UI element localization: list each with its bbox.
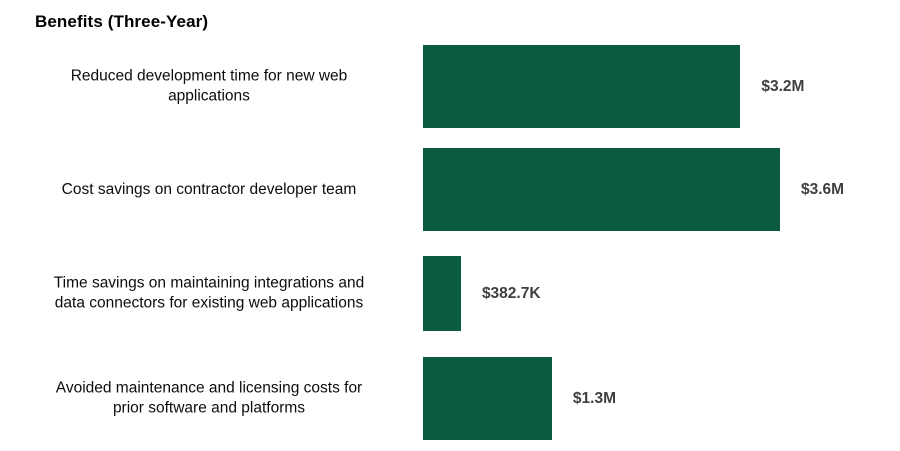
bar-rect[interactable] <box>423 45 740 128</box>
bar-value-label: $1.3M <box>573 390 616 408</box>
bar-category-label: Avoided maintenance and licensing costs … <box>0 378 418 419</box>
bar-value-label: $3.2M <box>761 78 804 96</box>
bar-rect[interactable] <box>423 148 780 231</box>
bar-category-label: Time savings on maintaining integrations… <box>0 273 418 314</box>
bar-row[interactable]: Avoided maintenance and licensing costs … <box>0 357 900 440</box>
bar-value-label: $3.6M <box>801 181 844 199</box>
bar-row[interactable]: Reduced development time for new webappl… <box>0 45 900 128</box>
bar-category-label: Reduced development time for new webappl… <box>0 66 418 107</box>
bar-rect[interactable] <box>423 357 552 440</box>
bar-row[interactable]: Cost savings on contractor developer tea… <box>0 148 900 231</box>
benefits-bar-chart: Benefits (Three-Year) Reduced developmen… <box>0 0 900 451</box>
bar-row[interactable]: Time savings on maintaining integrations… <box>0 256 900 331</box>
bar-category-label: Cost savings on contractor developer tea… <box>0 179 418 199</box>
bar-rect[interactable] <box>423 256 461 331</box>
bar-value-label: $382.7K <box>482 285 541 303</box>
chart-title: Benefits (Three-Year) <box>35 12 208 32</box>
